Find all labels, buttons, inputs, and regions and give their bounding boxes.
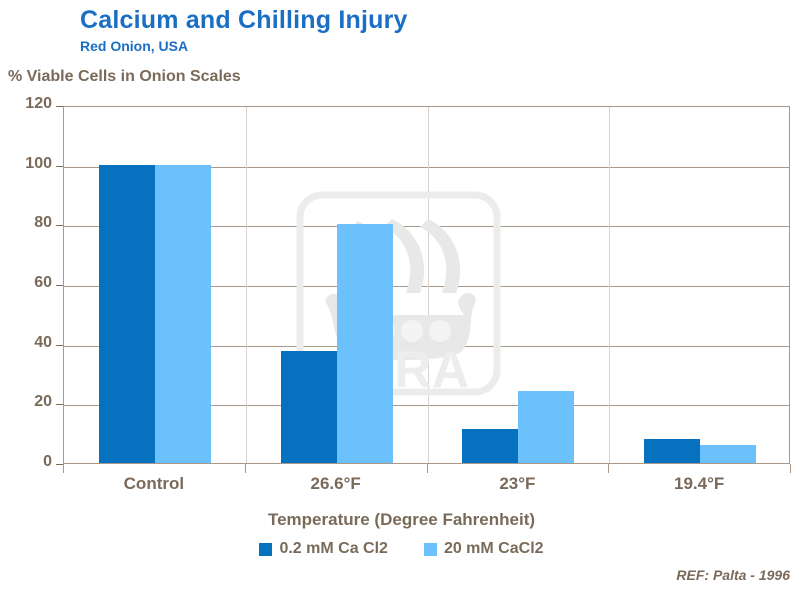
y-tick-label: 120: [0, 95, 52, 113]
y-tick-label: 40: [0, 334, 52, 352]
y-axis-title: % Viable Cells in Onion Scales: [8, 68, 241, 86]
x-tick-label: 23°F: [427, 474, 609, 494]
bar: [99, 165, 155, 463]
x-tick-mark: [245, 464, 246, 473]
category-separator: [246, 107, 247, 463]
page-title: Calcium and Chilling Injury: [80, 6, 408, 35]
x-axis-title: Temperature (Degree Fahrenheit): [0, 510, 803, 530]
y-tick-label: 60: [0, 274, 52, 292]
x-tick-label: Control: [63, 474, 245, 494]
bar: [644, 439, 700, 463]
bar: [518, 391, 574, 463]
plot-area: YARA: [63, 106, 790, 464]
chart-subtitle: Red Onion, USA: [80, 38, 188, 54]
y-tick-label: 0: [0, 453, 52, 471]
x-tick-mark: [608, 464, 609, 473]
x-tick-label: 19.4°F: [608, 474, 790, 494]
y-tick-label: 100: [0, 155, 52, 173]
legend-label: 20 mM CaCl2: [444, 540, 544, 558]
bar: [337, 224, 393, 463]
legend-label: 0.2 mM Ca Cl2: [279, 540, 387, 558]
chart-legend: 0.2 mM Ca Cl220 mM CaCl2: [0, 540, 803, 558]
bar: [155, 165, 211, 463]
reference-note: REF: Palta - 1996: [676, 567, 790, 583]
legend-swatch-icon: [259, 543, 272, 556]
y-tick-label: 20: [0, 393, 52, 411]
legend-swatch-icon: [424, 543, 437, 556]
bar: [700, 445, 756, 463]
bar: [281, 351, 337, 463]
chart-page: Calcium and Chilling Injury Red Onion, U…: [0, 0, 803, 591]
category-separator: [609, 107, 610, 463]
legend-item: 0.2 mM Ca Cl2: [259, 540, 387, 558]
x-tick-mark: [63, 464, 64, 473]
legend-item: 20 mM CaCl2: [424, 540, 544, 558]
x-tick-mark: [427, 464, 428, 473]
category-separator: [428, 107, 429, 463]
bar: [462, 429, 518, 463]
x-tick-mark: [790, 464, 791, 473]
x-tick-label: 26.6°F: [245, 474, 427, 494]
y-tick-label: 80: [0, 214, 52, 232]
